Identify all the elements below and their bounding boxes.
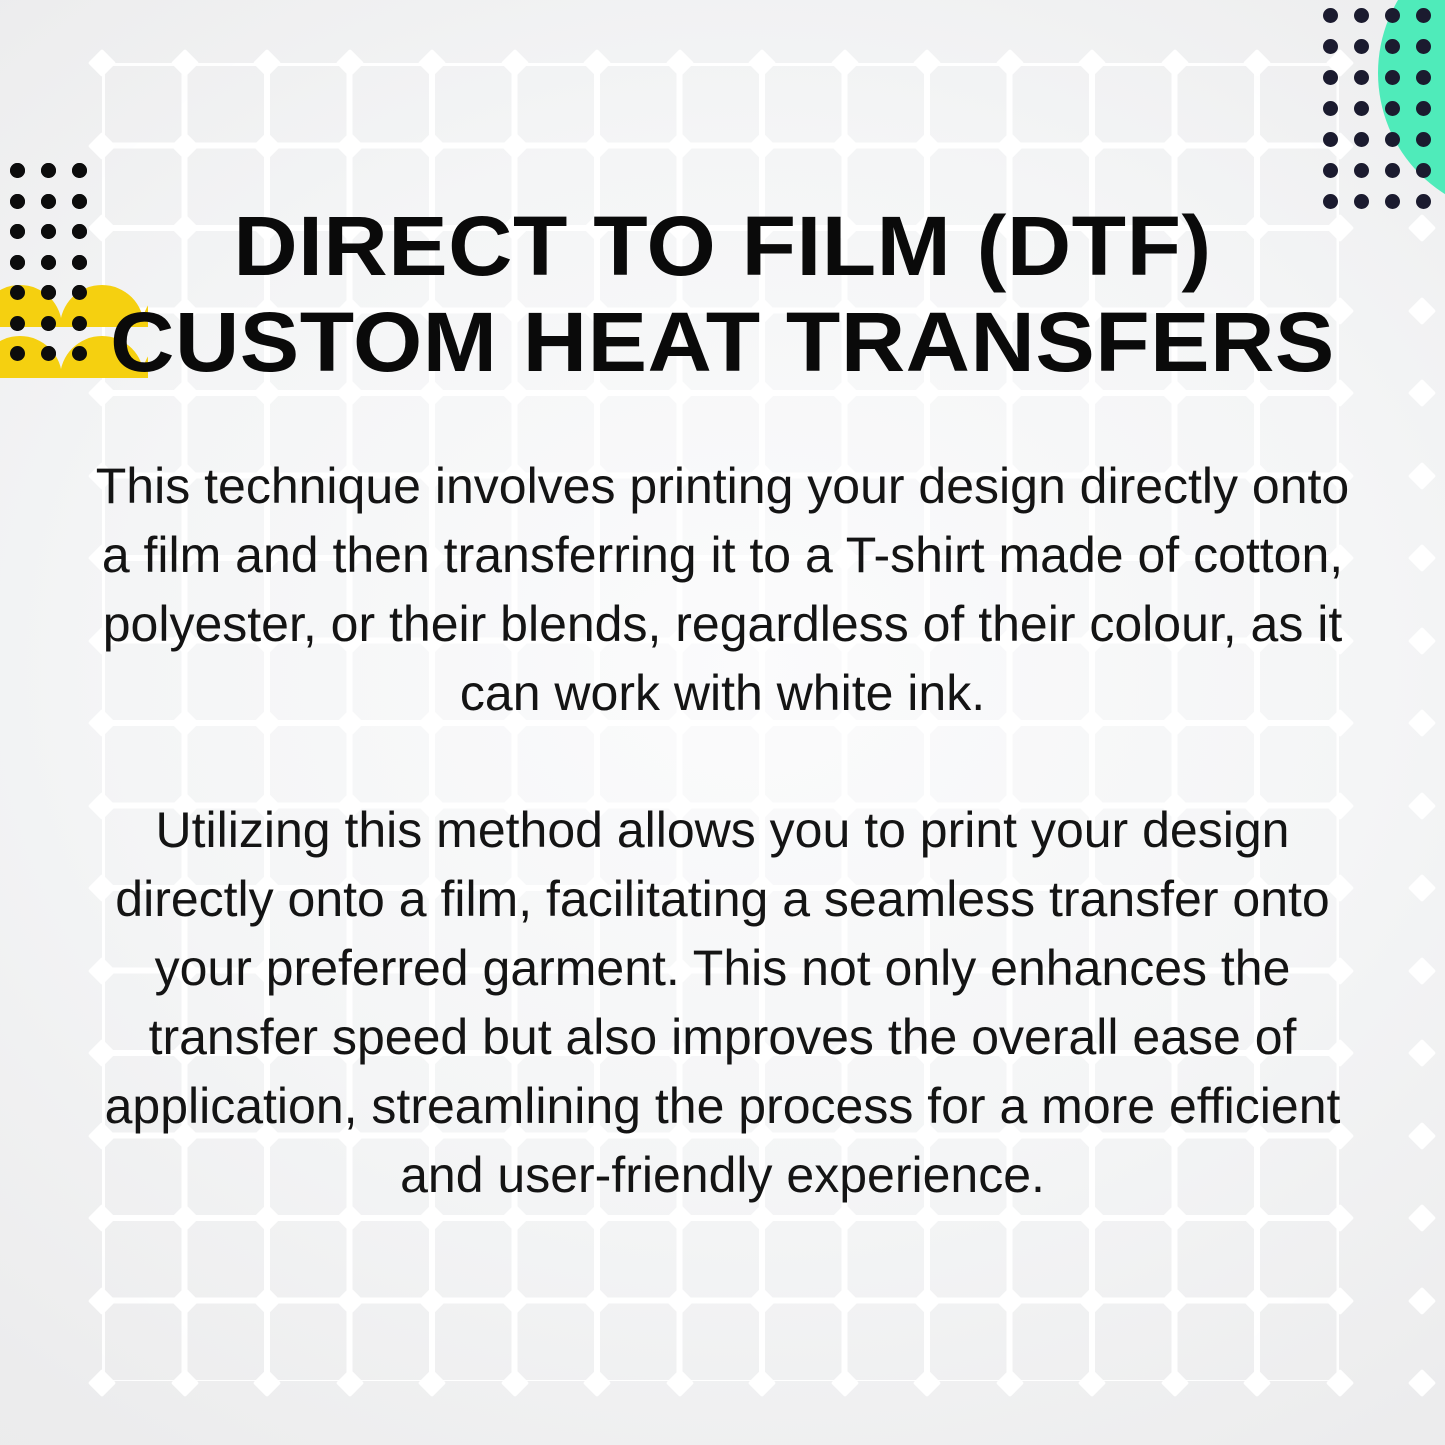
- grid-diamond-icon: [748, 1369, 776, 1397]
- decorative-dot-icon: [1416, 8, 1431, 23]
- grid-diamond-icon: [335, 131, 363, 159]
- grid-diamond-icon: [500, 131, 528, 159]
- decorative-dot-icon: [1416, 101, 1431, 116]
- page-title-line-2: CUSTOM HEAT TRANSFERS: [0, 294, 1445, 390]
- grid-diamond-icon: [418, 1369, 446, 1397]
- grid-diamond-icon: [500, 1286, 528, 1314]
- grid-diamond-icon: [1243, 131, 1271, 159]
- body-copy: This technique involves printing your de…: [95, 452, 1350, 1210]
- grid-diamond-icon: [253, 1286, 281, 1314]
- decorative-dot-icon: [1354, 39, 1369, 54]
- grid-diamond-icon: [583, 49, 611, 77]
- grid-diamond-icon: [665, 49, 693, 77]
- decorative-dot-icon: [10, 163, 25, 178]
- decorative-dot-icon: [1323, 70, 1338, 85]
- grid-diamond-icon: [995, 1369, 1023, 1397]
- page-title-line-1: DIRECT TO FILM (DTF): [0, 198, 1445, 294]
- grid-diamond-icon: [1078, 1286, 1106, 1314]
- grid-diamond-icon: [418, 49, 446, 77]
- navy-dot-grid-icon: [1315, 0, 1445, 200]
- grid-diamond-icon: [1325, 1286, 1353, 1314]
- grid-diamond-icon: [88, 49, 116, 77]
- grid-diamond-icon: [1408, 1039, 1436, 1067]
- grid-diamond-icon: [1408, 791, 1436, 819]
- decorative-dot-icon: [1385, 70, 1400, 85]
- decorative-dot-icon: [1323, 132, 1338, 147]
- grid-diamond-icon: [748, 1286, 776, 1314]
- grid-diamond-icon: [1078, 49, 1106, 77]
- grid-diamond-icon: [583, 1369, 611, 1397]
- grid-diamond-icon: [253, 49, 281, 77]
- decorative-dot-icon: [1323, 163, 1338, 178]
- decorative-dot-icon: [1323, 101, 1338, 116]
- poster-canvas: DIRECT TO FILM (DTF) CUSTOM HEAT TRANSFE…: [0, 0, 1445, 1445]
- grid-diamond-icon: [1160, 49, 1188, 77]
- grid-diamond-icon: [1160, 1369, 1188, 1397]
- decorative-dot-icon: [1416, 39, 1431, 54]
- grid-diamond-icon: [665, 1369, 693, 1397]
- grid-diamond-icon: [583, 131, 611, 159]
- grid-diamond-icon: [913, 49, 941, 77]
- grid-diamond-icon: [748, 49, 776, 77]
- grid-diamond-icon: [748, 131, 776, 159]
- grid-diamond-icon: [170, 131, 198, 159]
- grid-diamond-icon: [665, 131, 693, 159]
- decorative-dot-icon: [1385, 132, 1400, 147]
- grid-diamond-icon: [335, 49, 363, 77]
- decorative-dot-icon: [1354, 8, 1369, 23]
- grid-diamond-icon: [913, 131, 941, 159]
- grid-diamond-icon: [500, 1369, 528, 1397]
- decorative-dot-icon: [1385, 39, 1400, 54]
- grid-diamond-icon: [253, 1369, 281, 1397]
- decorative-dot-icon: [1354, 101, 1369, 116]
- decorative-dot-icon: [1385, 8, 1400, 23]
- grid-diamond-icon: [1408, 461, 1436, 489]
- grid-diamond-icon: [88, 1286, 116, 1314]
- grid-diamond-icon: [1408, 544, 1436, 572]
- grid-diamond-icon: [913, 1286, 941, 1314]
- grid-diamond-icon: [830, 1369, 858, 1397]
- decorative-dot-icon: [1323, 39, 1338, 54]
- grid-diamond-icon: [1243, 1369, 1271, 1397]
- grid-diamond-icon: [913, 1369, 941, 1397]
- grid-diamond-icon: [1325, 1369, 1353, 1397]
- grid-diamond-icon: [1408, 709, 1436, 737]
- decorative-dot-icon: [72, 163, 87, 178]
- grid-diamond-icon: [170, 1369, 198, 1397]
- grid-diamond-icon: [335, 1286, 363, 1314]
- grid-diamond-icon: [830, 131, 858, 159]
- body-paragraph-1: This technique involves printing your de…: [95, 452, 1350, 728]
- grid-diamond-icon: [995, 49, 1023, 77]
- grid-diamond-icon: [335, 1369, 363, 1397]
- grid-diamond-icon: [1243, 1286, 1271, 1314]
- decorative-dot-icon: [1354, 70, 1369, 85]
- grid-diamond-icon: [1078, 1369, 1106, 1397]
- grid-diamond-icon: [1160, 1286, 1188, 1314]
- decorative-dot-icon: [1416, 70, 1431, 85]
- body-paragraph-2: Utilizing this method allows you to prin…: [95, 796, 1350, 1210]
- grid-diamond-icon: [1408, 956, 1436, 984]
- decorative-dot-icon: [1385, 101, 1400, 116]
- grid-diamond-icon: [170, 1286, 198, 1314]
- page-title: DIRECT TO FILM (DTF) CUSTOM HEAT TRANSFE…: [0, 198, 1445, 390]
- decorative-dot-icon: [1323, 8, 1338, 23]
- grid-diamond-icon: [995, 1286, 1023, 1314]
- grid-diamond-icon: [830, 1286, 858, 1314]
- grid-diamond-icon: [418, 1286, 446, 1314]
- grid-diamond-icon: [1408, 626, 1436, 654]
- grid-diamond-icon: [1078, 131, 1106, 159]
- grid-diamond-icon: [830, 49, 858, 77]
- grid-diamond-icon: [1408, 874, 1436, 902]
- grid-diamond-icon: [170, 49, 198, 77]
- grid-diamond-icon: [500, 49, 528, 77]
- grid-diamond-icon: [1160, 131, 1188, 159]
- grid-diamond-icon: [1408, 1369, 1436, 1397]
- decorative-dot-icon: [1416, 132, 1431, 147]
- grid-diamond-icon: [1408, 1204, 1436, 1232]
- grid-diamond-icon: [665, 1286, 693, 1314]
- grid-diamond-icon: [1408, 1121, 1436, 1149]
- decorative-dot-icon: [1354, 132, 1369, 147]
- grid-diamond-icon: [583, 1286, 611, 1314]
- grid-diamond-icon: [88, 1369, 116, 1397]
- grid-diamond-icon: [1243, 49, 1271, 77]
- grid-diamond-icon: [253, 131, 281, 159]
- grid-diamond-icon: [1408, 1286, 1436, 1314]
- decorative-dot-icon: [1416, 163, 1431, 178]
- decorative-dot-icon: [1354, 163, 1369, 178]
- decorative-dot-icon: [41, 163, 56, 178]
- grid-diamond-icon: [418, 131, 446, 159]
- grid-diamond-icon: [995, 131, 1023, 159]
- decorative-dot-icon: [1385, 163, 1400, 178]
